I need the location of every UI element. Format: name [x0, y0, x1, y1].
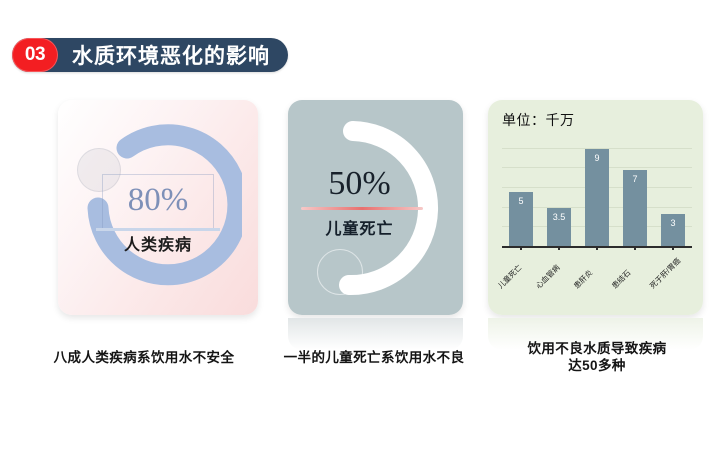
page-title-bar: 03 水质环境恶化的影响	[12, 38, 288, 72]
caption-line-2: 达50多种	[492, 357, 702, 374]
chart-xaxis-label: 心血管病	[533, 262, 562, 291]
donut-chart-80: 80% 人类疾病	[74, 124, 242, 292]
chart-bar: 3	[661, 214, 685, 246]
caption-line-1: 饮用不良水质导致疾病	[492, 340, 702, 357]
small-circle-decoration	[317, 249, 363, 295]
caption-child-death: 一半的儿童死亡系饮用水不良	[258, 349, 490, 366]
slide-root: 03 水质环境恶化的影响 80% 人类疾病	[0, 0, 726, 450]
percent-label-child-death: 儿童死亡	[288, 215, 435, 239]
chart-bar-value: 3.5	[547, 212, 571, 222]
card-reflection-2	[288, 318, 463, 350]
chart-bar: 7	[623, 170, 647, 246]
chart-xaxis-label: 患肝炎	[571, 267, 595, 291]
chart-unit-label: 单位：千万	[502, 110, 575, 130]
chart-bar-value: 9	[585, 153, 609, 163]
chart-bar-value: 5	[509, 196, 533, 206]
chart-bar: 9	[585, 149, 609, 246]
percent-label-human-disease: 人类疾病	[74, 231, 242, 255]
caption-human-disease: 八成人类疾病系饮用水不安全	[28, 349, 260, 366]
caption-disease-chart: 饮用不良水质导致疾病 达50多种	[492, 340, 702, 374]
chart-xaxis-label: 患结石	[609, 267, 633, 291]
section-number-badge: 03	[12, 38, 58, 72]
card-human-disease: 80% 人类疾病	[58, 100, 258, 315]
arc-chart-50: 50% 儿童死亡	[291, 119, 461, 297]
chart-bar-value: 3	[661, 218, 685, 228]
chart-bar: 3.5	[547, 208, 571, 246]
chart-xaxis-label: 儿童死亡	[495, 262, 524, 291]
bar-chart-xaxis-labels: 儿童死亡心血管病患肝炎患结石死于肝/胃癌	[502, 248, 702, 300]
chart-bar: 5	[509, 192, 533, 246]
chart-bar-value: 7	[623, 174, 647, 184]
cards-row: 80% 人类疾病 50% 儿童死亡 单位：千万 53.5973 儿童死亡心血管病…	[0, 100, 726, 315]
percent-value-50: 50%	[288, 163, 435, 205]
percent-value-80: 80%	[74, 178, 242, 222]
card-disease-chart: 单位：千万 53.5973 儿童死亡心血管病患肝炎患结石死于肝/胃癌	[488, 100, 703, 315]
chart-xaxis-label: 死于肝/胃癌	[647, 255, 683, 291]
percent-underline-red	[301, 207, 423, 210]
bar-chart-plot: 53.5973	[502, 138, 692, 246]
card-child-death: 50% 儿童死亡	[288, 100, 463, 315]
page-title: 水质环境恶化的影响	[72, 40, 270, 70]
